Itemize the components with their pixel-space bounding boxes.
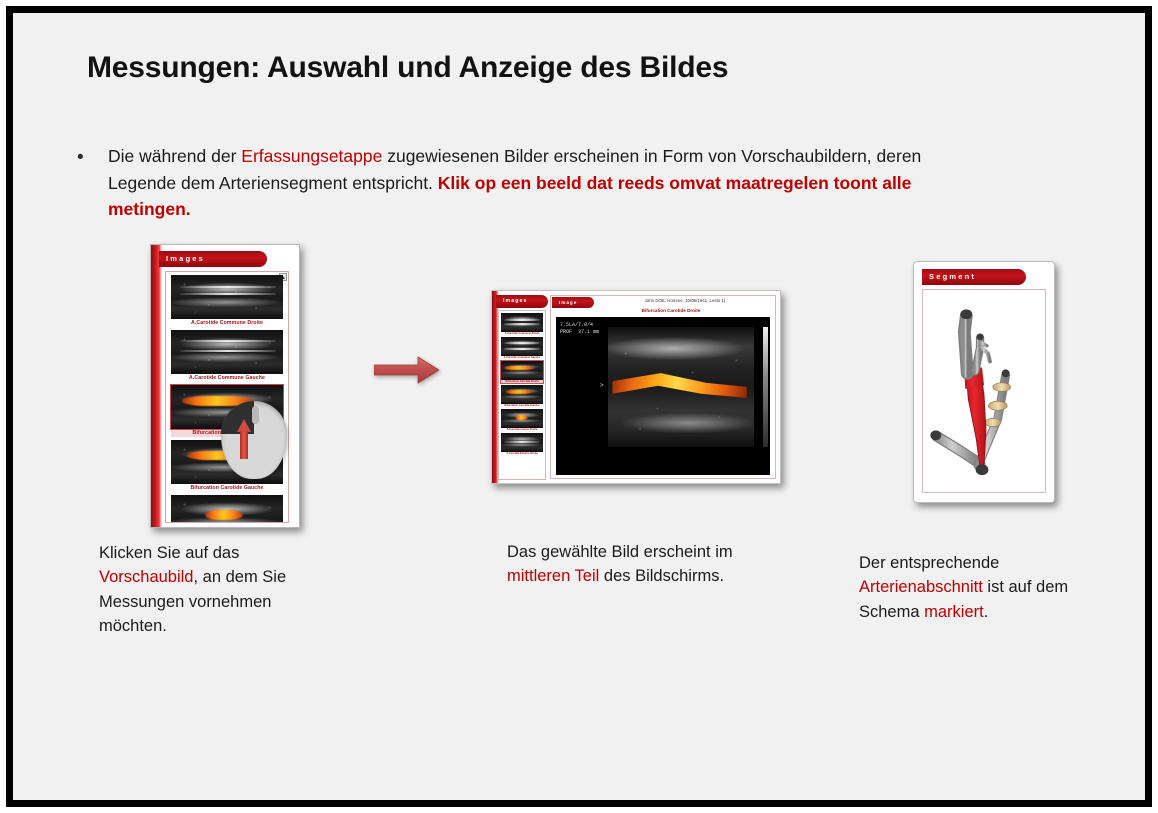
images-panel-header: Images — [159, 251, 267, 267]
thumbnail-label: A.Carotide Interne Droite — [501, 428, 543, 431]
overlay-depth-info: PROF 37.1 mm — [560, 329, 599, 336]
thumbnail-label: Bifurcation Carotide Gauche — [171, 484, 283, 492]
caption-right-highlight: Arterienabschnitt — [859, 578, 983, 596]
bullet-marker: • — [77, 148, 84, 167]
bullet-paragraph: • Die während der Erfassungsetappe zugew… — [77, 143, 929, 223]
right-arrow-icon — [374, 355, 440, 385]
list-item[interactable]: A.Carotide Commune Gauche — [501, 337, 543, 359]
caption-right-part3: . — [984, 603, 989, 621]
images-panel-header: Images — [496, 295, 548, 308]
list-item[interactable]: A.Carotide Externe Droite — [501, 433, 543, 455]
thumbnail-image — [501, 385, 543, 404]
mouse-click-icon — [221, 401, 287, 479]
slide-canvas: Messungen: Auswahl und Anzeige des Bilde… — [13, 13, 1145, 800]
image-title: Bifurcation Carotide Droite — [571, 308, 771, 313]
main-image-panel[interactable]: Image John DOE, Homme, 10/06/1941, Lesto… — [550, 295, 776, 479]
caption-left-part1: Klicken Sie auf das — [99, 544, 239, 562]
caption-right-part1: Der entsprechende — [859, 554, 999, 572]
caption-right-highlight2: markiert — [924, 603, 984, 621]
thumbnail-image — [501, 361, 543, 380]
caption-mid-highlight: mittleren Teil — [507, 567, 599, 585]
caption-left: Klicken Sie auf das Vorschaubild, an dem… — [99, 541, 331, 639]
thumbnail-image — [501, 409, 543, 428]
caption-right: Der entsprechende Arterienabschnitt ist … — [859, 551, 1083, 624]
thumbnail-image — [501, 313, 543, 332]
caption-left-highlight: Vorschaubild — [99, 568, 193, 586]
thumbnail-image — [171, 330, 283, 374]
thumbnail-list[interactable]: A.Carotide Commune Droite A.Carotide Com… — [498, 310, 546, 480]
page-title: Messungen: Auswahl und Anzeige des Bilde… — [87, 51, 987, 85]
thumbnail-label: A.Carotide Commune Droite — [501, 332, 543, 335]
list-item[interactable]: A.Carotide Interne Droite — [171, 495, 283, 523]
thumbnail-label: A.Carotide Commune Gauche — [171, 374, 283, 382]
list-item[interactable]: Bifurcation Carotide Gauche — [501, 385, 543, 407]
image-canvas[interactable]: 7.5LA/7.0/4 PROF 37.1 mm > — [556, 317, 770, 475]
screenshot-image-list[interactable]: Images A.Carotide Commune Droite A.Carot… — [150, 244, 300, 528]
thumbnail-label: Bifurcation Carotide Droite — [501, 380, 543, 383]
thumbnail-list[interactable]: A.Carotide Commune Droite A.Carotide Com… — [165, 271, 289, 523]
list-item[interactable]: Bifurcation Carotide Droite — [501, 361, 543, 383]
thumbnail-image — [171, 495, 283, 523]
overlay-probe-info: 7.5LA/7.0/4 — [560, 322, 593, 329]
list-item[interactable]: A.Carotide Interne Droite — [501, 409, 543, 431]
app-red-sidebar — [151, 245, 162, 527]
thumbnail-label: Bifurcation Carotide Gauche — [501, 404, 543, 407]
slide-frame: Messungen: Auswahl und Anzeige des Bilde… — [6, 6, 1152, 807]
thumbnail-label: A.Carotide Externe Droite — [501, 452, 543, 455]
caption-mid-part2: des Bildschirms. — [599, 567, 724, 585]
carotid-artery-schema — [923, 290, 1045, 492]
screenshot-selected-image[interactable]: Images A.Carotide Commune Droite A.Carot… — [491, 290, 781, 484]
bullet-text: Die während der Erfassungsetappe zugewie… — [108, 143, 929, 223]
image-panel-header: Image — [552, 297, 594, 308]
grayscale-ruler — [763, 327, 768, 447]
segment-panel-header: Segment — [922, 269, 1026, 285]
click-arrow-icon — [237, 419, 251, 459]
bullet-highlight-erfassungsetappe: Erfassungsetappe — [241, 146, 382, 166]
thumbnail-image — [501, 337, 543, 356]
bullet-text-part1: Die während der — [108, 146, 241, 166]
ultrasound-image — [608, 327, 754, 447]
caption-middle: Das gewählte Bild erscheint im mittleren… — [507, 540, 757, 589]
thumbnail-image — [171, 275, 283, 319]
segment-diagram-canvas[interactable] — [922, 289, 1046, 493]
thumbnail-label: A.Carotide Commune Droite — [171, 319, 283, 327]
list-item[interactable]: A.Carotide Commune Gauche — [171, 330, 283, 382]
screenshot-segment-schema[interactable]: Segment — [913, 261, 1055, 503]
list-item[interactable]: A.Carotide Commune Droite — [171, 275, 283, 327]
caption-mid-part1: Das gewählte Bild erscheint im — [507, 543, 733, 561]
depth-marker-icon: > — [600, 383, 604, 389]
thumbnail-label: A.Carotide Commune Gauche — [501, 356, 543, 359]
thumbnail-image — [501, 433, 543, 452]
list-item[interactable]: A.Carotide Commune Droite — [501, 313, 543, 335]
patient-info: John DOE, Homme, 10/06/1941, Lesto 1) — [595, 298, 775, 303]
